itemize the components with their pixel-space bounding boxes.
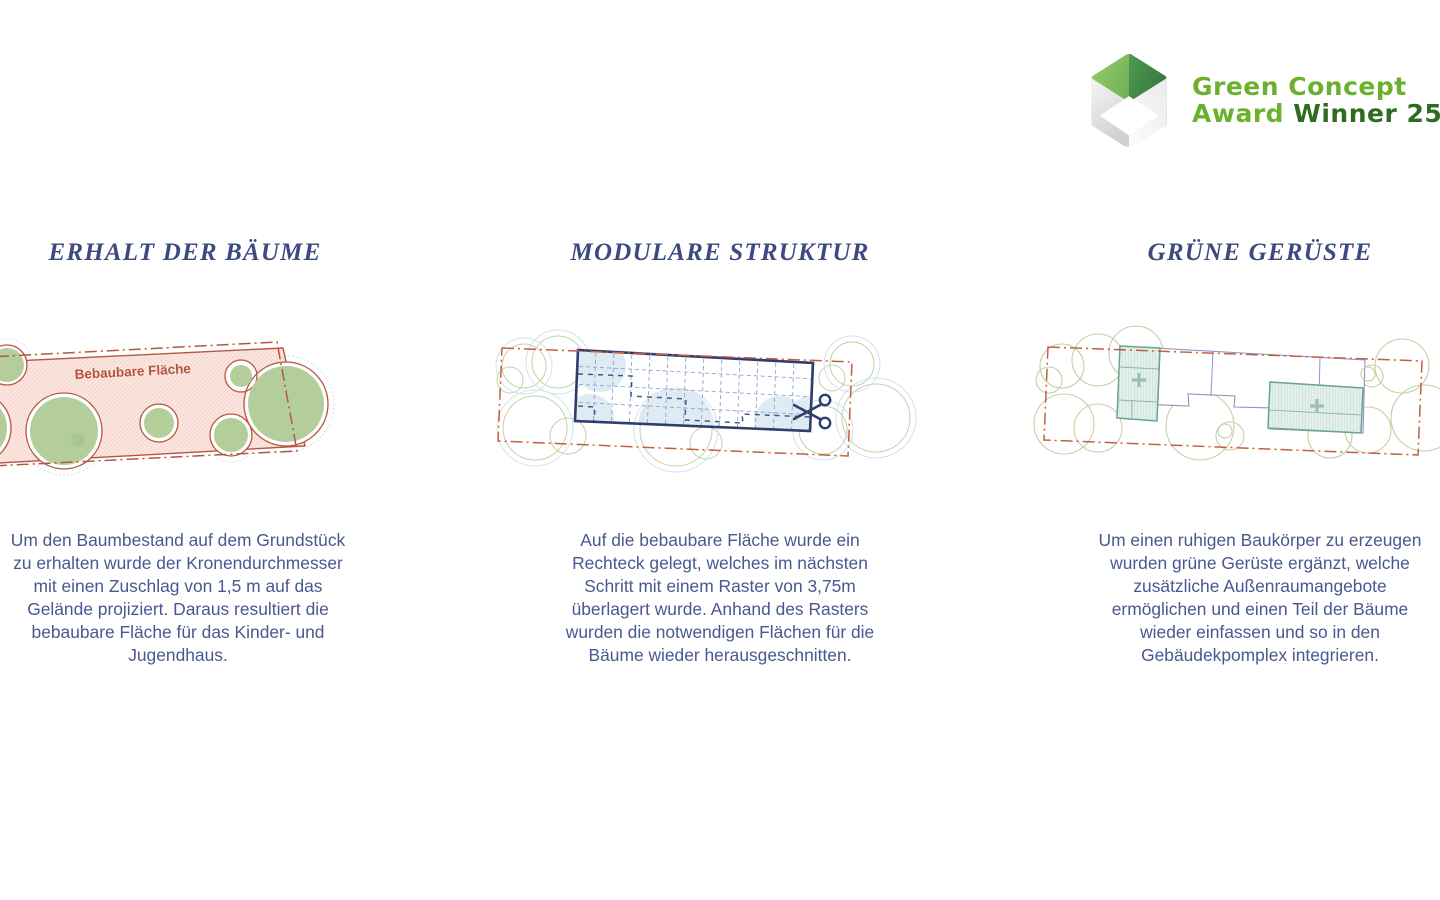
award-logo-wordmark: Green Concept Award Winner 25 [1192,73,1440,127]
panel-1-figure: Bebaubare Fläche [0,318,425,493]
panel-3-body: Um einen ruhigen Baukörper zu erzeugen w… [1020,529,1440,667]
award-logo-winner-word: Winner 25 [1293,99,1440,128]
panel-erhalt-der-baeume: ERHALT DER BÄUME [0,230,425,660]
award-logo: Green Concept Award Winner 25 [1080,50,1390,150]
panel-modulare-struktur: MODULARE STRUKTUR [480,230,960,660]
award-logo-mark [1080,51,1178,149]
panel-3-figure [1020,318,1440,493]
award-logo-line1: Green Concept [1192,73,1440,100]
panel-2-figure [480,318,960,493]
site-plan-green-scaffolds-diagram [1020,318,1440,493]
site-plan-grid-rectangle-diagram [480,318,960,493]
panel-2-title: MODULARE STRUKTUR [480,230,960,276]
panel-2-body: Auf die bebaubare Fläche wurde ein Recht… [480,529,960,667]
award-logo-line2: Award Winner 25 [1192,100,1440,127]
panel-gruene-gerueste: GRÜNE GERÜSTE [1020,230,1440,660]
panel-1-body: Um den Baumbestand auf dem Grundstück zu… [0,529,425,667]
panel-1-title: ERHALT DER BÄUME [0,230,425,276]
site-plan-buildable-area-diagram: Bebaubare Fläche [0,318,425,493]
panel-3-title: GRÜNE GERÜSTE [1020,230,1440,276]
award-logo-award-word: Award [1192,99,1284,128]
